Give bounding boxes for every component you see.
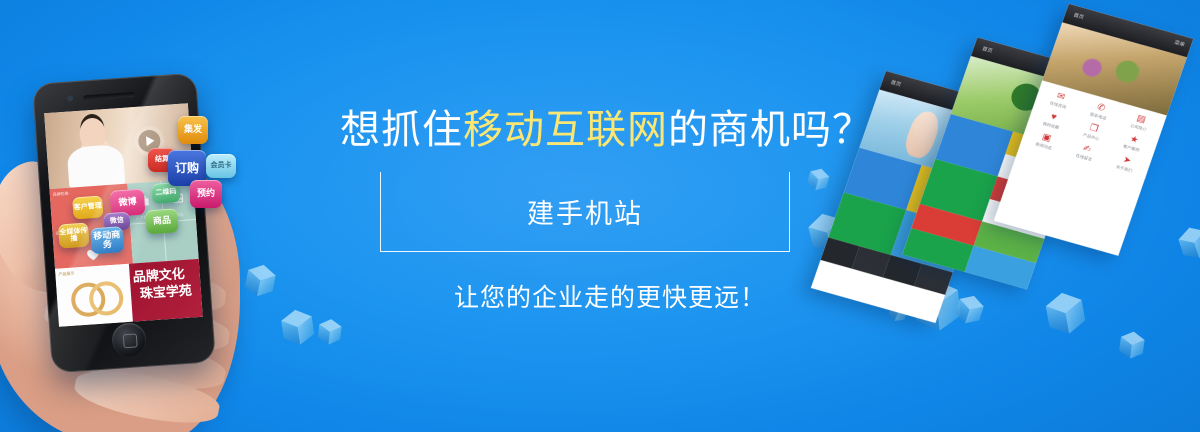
icon-grid-label: 联系电话 — [1089, 112, 1107, 121]
headline-highlight: 移动互联网 — [463, 108, 668, 152]
banner-copy: 想抓住移动互联网的商机吗？ 建手机站 让您的企业走的更快更远！ — [330, 110, 890, 150]
news-icon: ▣ — [1041, 132, 1053, 143]
icon-grid-label: 客户案例 — [1122, 143, 1140, 152]
floating-tile-booking[interactable]: 预约 — [190, 180, 222, 208]
cta-frame[interactable]: 建手机站 — [380, 172, 790, 252]
icon-grid-label: 我的收藏 — [1042, 121, 1060, 130]
megaphone-icon: ➤ — [1121, 155, 1133, 166]
phone-icon: ✆ — [1095, 102, 1107, 113]
icon-grid-label: 公司简介 — [1130, 123, 1148, 132]
heart-icon: ♥ — [1048, 112, 1060, 123]
promo-banner: 品牌形象 品牌展示 — [0, 0, 1200, 432]
app-header-action: 菜单 — [1173, 39, 1185, 48]
app-header-title: 首页 — [890, 79, 902, 88]
icon-grid-label: 新闻动态 — [1035, 141, 1053, 150]
app-header-title: 首页 — [1073, 12, 1085, 21]
icon-grid-label: 产品中心 — [1082, 132, 1100, 141]
icon-grid-label: 关于我们 — [1115, 164, 1133, 173]
tag-icon: ❐ — [1088, 123, 1100, 134]
message-icon: ✍ — [1081, 143, 1093, 154]
icon-grid-label: 在线咨询 — [1049, 100, 1067, 109]
app-header-title: 首页 — [981, 45, 993, 54]
icon-grid-label: 在线留言 — [1075, 153, 1093, 162]
cta-label: 建手机站 — [527, 192, 643, 231]
floating-tile-membercard[interactable]: 会员卡 — [206, 154, 236, 178]
chat-icon: ✉ — [1055, 91, 1067, 102]
building-icon: ▤ — [1135, 114, 1147, 125]
headline: 想抓住移动互联网的商机吗？ — [330, 110, 890, 150]
tagline: 让您的企业走的更快更远！ — [330, 278, 890, 314]
headline-prefix: 想抓住 — [340, 108, 463, 152]
floating-tile-jifa[interactable]: 集发 — [178, 116, 208, 144]
device-stack-mockup: 首页 菜单 首页 菜单 — [894, 71, 1200, 306]
phone-in-hand-mockup: 品牌形象 品牌展示 — [0, 58, 280, 432]
star-icon: ★ — [1128, 134, 1140, 145]
headline-suffix: 的商机吗？ — [668, 108, 873, 152]
